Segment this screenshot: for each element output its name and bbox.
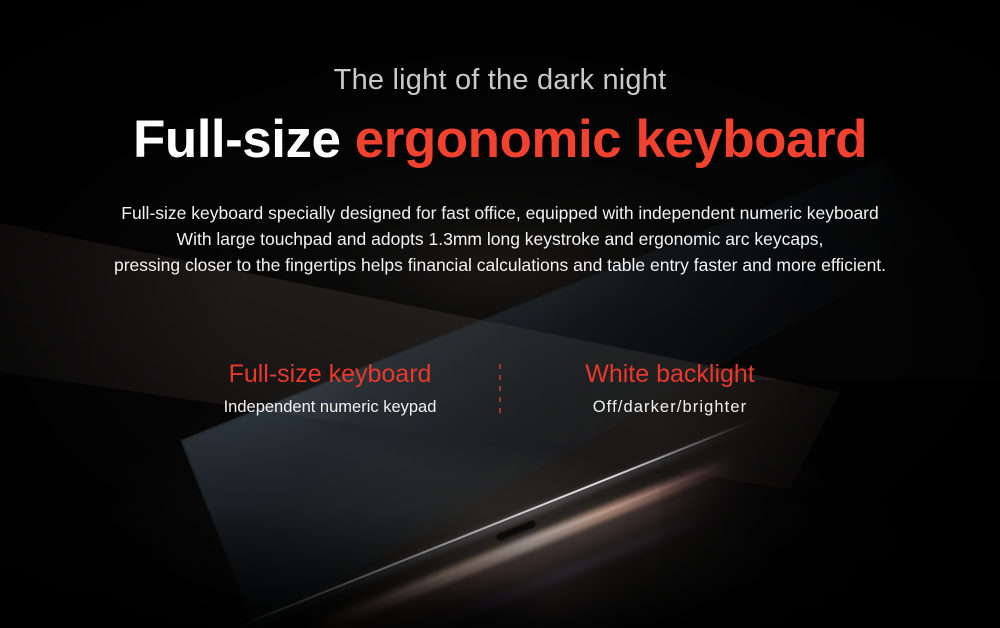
headline-accent: ergonomic keyboard — [355, 110, 867, 169]
description-paragraph: Full-size keyboard specially designed fo… — [0, 200, 1000, 278]
headline-primary: Full-size — [133, 110, 355, 169]
banner-content: The light of the dark night Full-size er… — [0, 0, 1000, 628]
product-banner: The light of the dark night Full-size er… — [0, 0, 1000, 628]
description-line-3: pressing closer to the fingertips helps … — [0, 252, 1000, 278]
feature-highlights: Full-size keyboard Independent numeric k… — [0, 358, 1000, 418]
feature-title: Full-size keyboard — [175, 358, 485, 390]
feature-subtitle: Independent numeric keypad — [175, 396, 485, 418]
description-line-2: With large touchpad and adopts 1.3mm lon… — [0, 226, 1000, 252]
feature-title: White backlight — [515, 358, 825, 390]
eyebrow-text: The light of the dark night — [0, 62, 1000, 98]
description-line-1: Full-size keyboard specially designed fo… — [0, 200, 1000, 226]
feature-divider — [499, 364, 501, 416]
feature-white-backlight: White backlight Off/darker/brighter — [515, 358, 825, 418]
feature-subtitle: Off/darker/brighter — [515, 396, 825, 418]
page-title: Full-size ergonomic keyboard — [0, 108, 1000, 172]
feature-full-size-keyboard: Full-size keyboard Independent numeric k… — [175, 358, 485, 418]
